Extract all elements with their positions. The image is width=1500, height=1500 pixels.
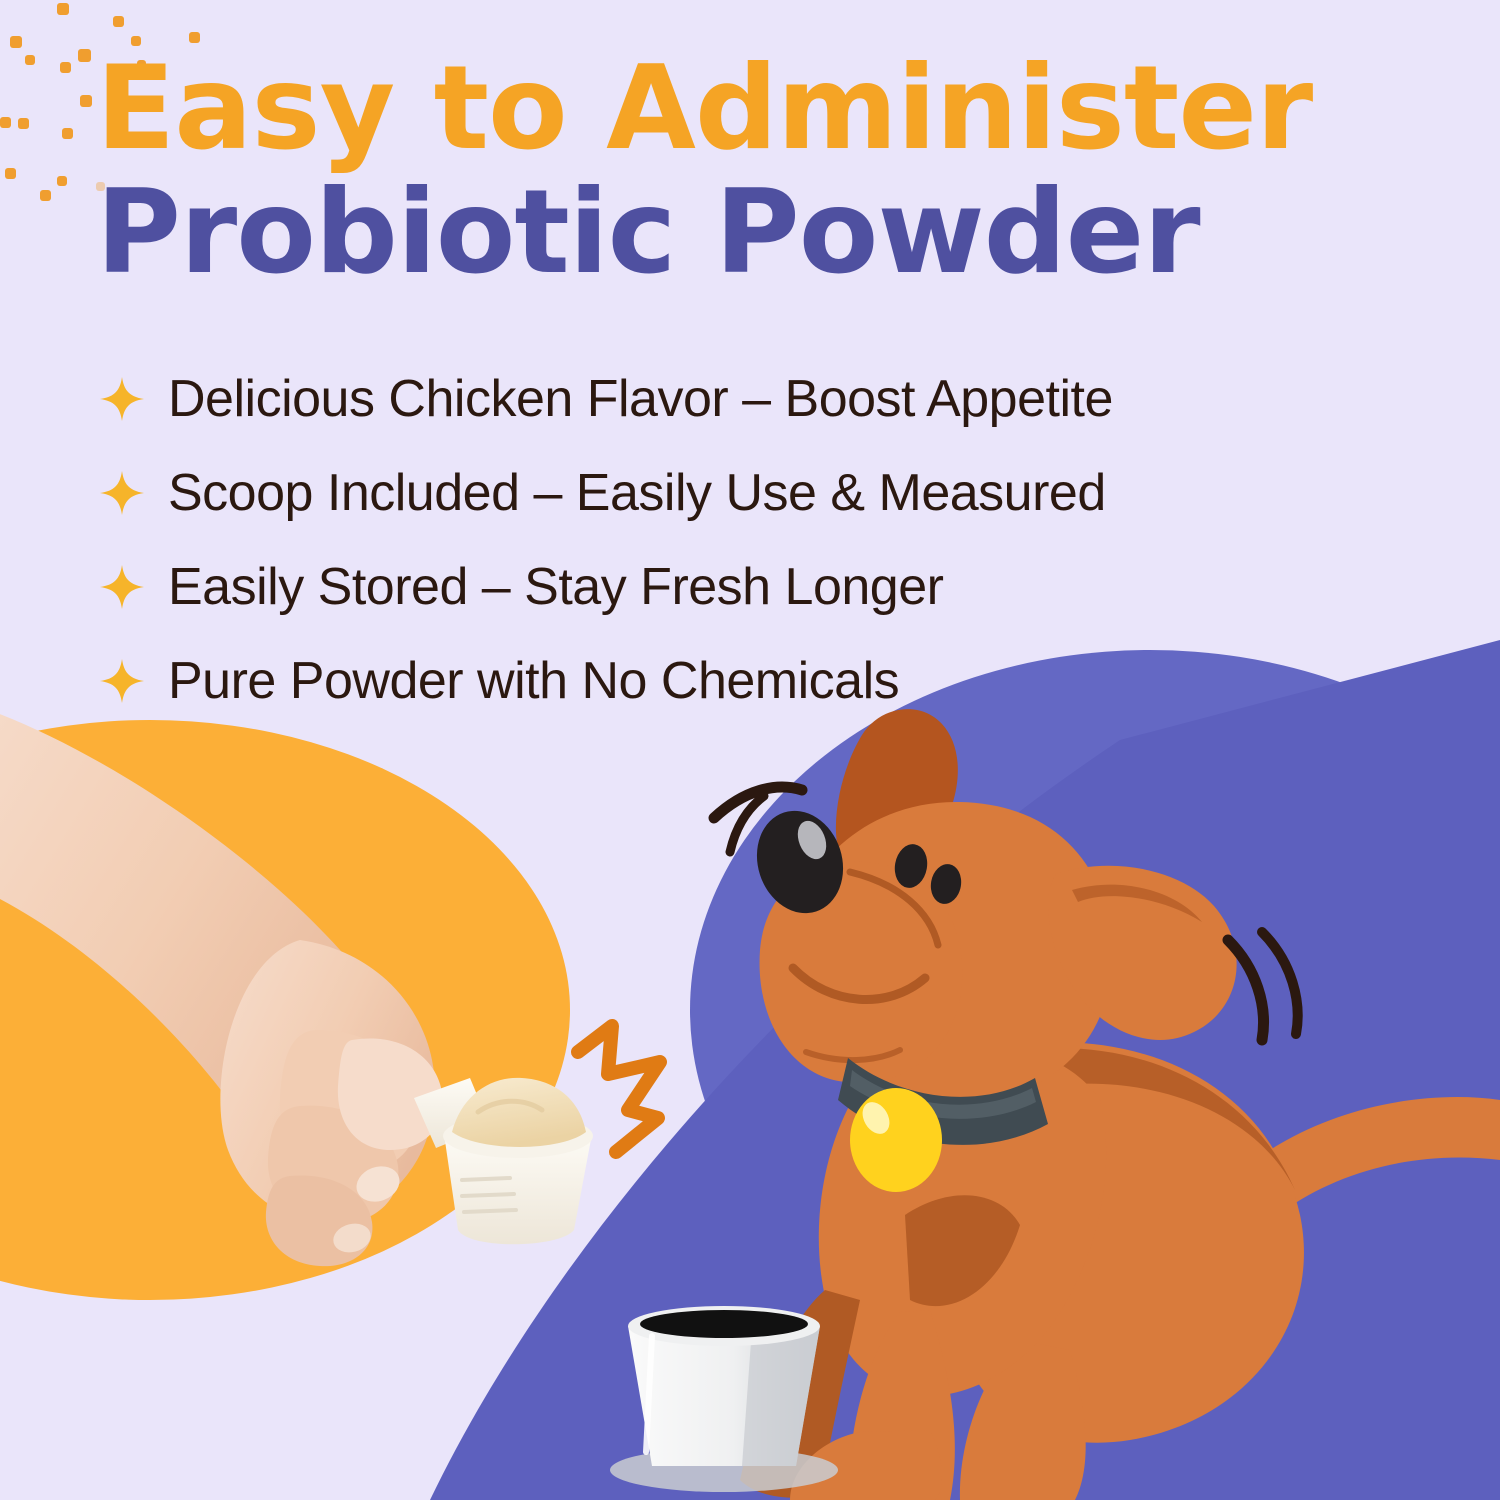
feature-bullet-list: Delicious Chicken Flavor – Boost Appetit…: [98, 352, 1418, 728]
feature-bullet-text: Delicious Chicken Flavor – Boost Appetit…: [168, 369, 1113, 429]
headline-line-2: Probiotic Powder: [96, 176, 1436, 290]
feature-bullet-text: Scoop Included – Easily Use & Measured: [168, 463, 1106, 523]
feature-bullet-text: Pure Powder with No Chemicals: [168, 651, 899, 711]
sparkle-star-icon: [98, 375, 146, 423]
dog-bowl: [610, 1306, 838, 1492]
sparkle-star-icon: [98, 469, 146, 517]
scoop-ridge-3: [464, 1210, 516, 1212]
feature-bullet-item: Easily Stored – Stay Fresh Longer: [98, 540, 1418, 634]
headline-block: Easy to Administer Probiotic Powder: [96, 52, 1436, 289]
scoop-ridge-2: [462, 1194, 514, 1196]
feature-bullet-item: Scoop Included – Easily Use & Measured: [98, 446, 1418, 540]
feature-bullet-item: Delicious Chicken Flavor – Boost Appetit…: [98, 352, 1418, 446]
feature-bullet-text: Easily Stored – Stay Fresh Longer: [168, 557, 943, 617]
dog-collar-tag: [850, 1088, 942, 1192]
headline-line-1: Easy to Administer: [96, 52, 1436, 166]
bowl-interior: [640, 1310, 808, 1338]
scoop-ridge-1: [462, 1178, 510, 1180]
sparkle-star-icon: [98, 657, 146, 705]
infographic-canvas: Easy to Administer Probiotic Powder Deli…: [0, 0, 1500, 1500]
sparkle-star-icon: [98, 563, 146, 611]
feature-bullet-item: Pure Powder with No Chemicals: [98, 634, 1418, 728]
